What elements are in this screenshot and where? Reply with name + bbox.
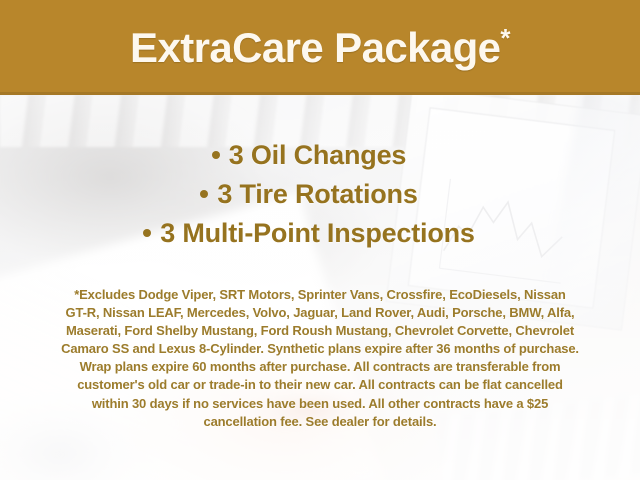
disclaimer-line: within 30 days if no services have been … <box>26 395 614 413</box>
list-item: 3 Oil Changes <box>0 136 618 175</box>
list-item-label: 3 Tire Rotations <box>217 179 417 209</box>
page-title-text: ExtraCare Package <box>130 24 500 71</box>
bullet-dot-icon <box>143 229 151 237</box>
disclaimer-line: GT-R, Nissan LEAF, Mercedes, Volvo, Jagu… <box>26 304 614 322</box>
extracare-package-ad: ExtraCare Package* 3 Oil Changes 3 Tire … <box>0 0 640 480</box>
list-item-label: 3 Multi-Point Inspections <box>160 218 475 248</box>
benefits-list: 3 Oil Changes 3 Tire Rotations 3 Multi-P… <box>0 136 640 253</box>
disclaimer-line: cancellation fee. See dealer for details… <box>26 413 614 431</box>
bullet-dot-icon <box>200 190 208 198</box>
page-title: ExtraCare Package* <box>130 27 510 69</box>
disclaimer-line: customer's old car or trade-in to their … <box>26 376 614 394</box>
list-item: 3 Multi-Point Inspections <box>0 214 618 253</box>
list-item-label: 3 Oil Changes <box>229 140 406 170</box>
header-band: ExtraCare Package* <box>0 0 640 95</box>
disclaimer-line: Camaro SS and Lexus 8-Cylinder. Syntheti… <box>26 340 614 358</box>
disclaimer-line: Wrap plans expire 60 months after purcha… <box>26 358 614 376</box>
page-title-asterisk: * <box>500 23 510 53</box>
list-item: 3 Tire Rotations <box>0 175 618 214</box>
disclaimer-block: *Excludes Dodge Viper, SRT Motors, Sprin… <box>26 286 614 431</box>
disclaimer-line: *Excludes Dodge Viper, SRT Motors, Sprin… <box>26 286 614 304</box>
bullet-dot-icon <box>212 151 220 159</box>
disclaimer-line: Maserati, Ford Shelby Mustang, Ford Rous… <box>26 322 614 340</box>
